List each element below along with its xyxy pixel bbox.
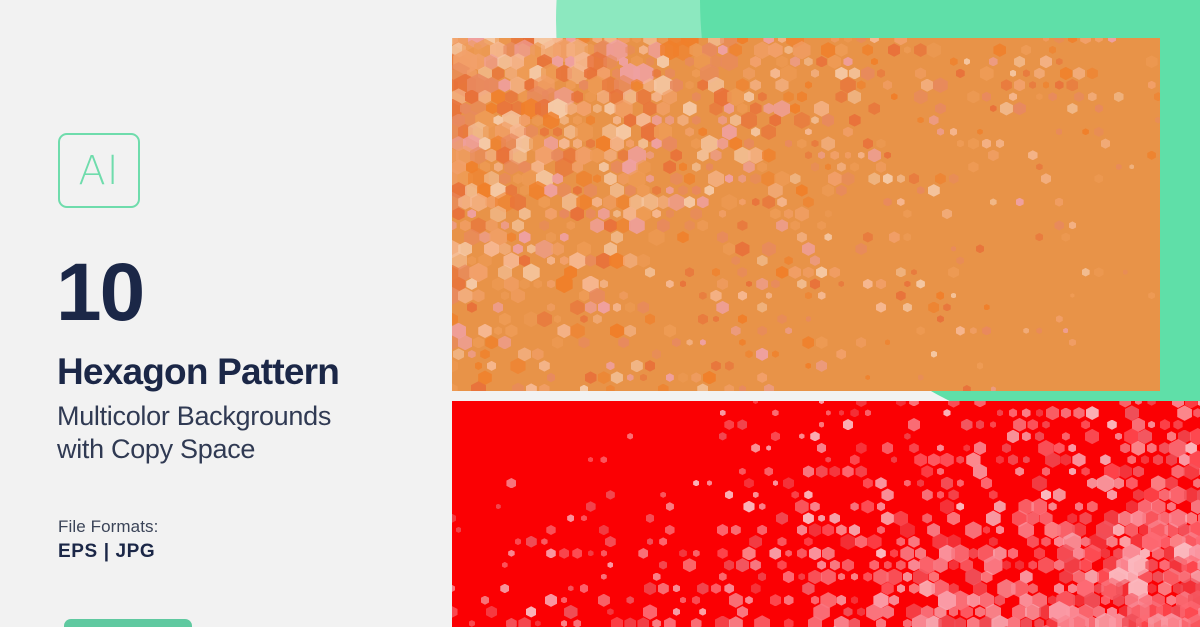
hexagon-tile [1123, 269, 1128, 274]
hexagon-tile [1087, 501, 1098, 513]
hexagon-tile [618, 337, 629, 348]
hexagon-tile [917, 117, 923, 124]
hexagon-tile [1056, 315, 1063, 323]
hexagon-tile [942, 209, 952, 220]
hexagon-tile [877, 526, 885, 534]
hexagon-tile [645, 313, 656, 324]
hexagon-tile [797, 548, 807, 559]
hexagon-tile [753, 401, 758, 404]
hexagon-tile [802, 336, 814, 349]
item-count: 10 [56, 252, 143, 334]
hexagon-tile [974, 441, 987, 455]
hexagon-tile [1095, 104, 1103, 113]
hexagon-tile [843, 419, 854, 430]
hexagon-tile [1041, 537, 1050, 547]
hexagon-tile [679, 162, 688, 171]
hexagon-tile [805, 128, 812, 135]
hexagon-tile [935, 173, 946, 185]
hexagon-tile [762, 148, 776, 162]
ai-badge-label: AI [78, 151, 119, 191]
hexagon-tile [452, 221, 457, 231]
hexagon-tile [830, 151, 839, 160]
hexagon-tile [829, 513, 840, 524]
hexagon-tile [1043, 38, 1050, 42]
hexagon-tile [884, 152, 891, 159]
hexagon-tile [611, 617, 624, 627]
hexagon-tile [750, 56, 761, 68]
hexagon-tile [1015, 467, 1024, 476]
hexagon-tile [683, 558, 696, 572]
hexagon-tile [712, 268, 720, 277]
hexagon-tile [770, 594, 782, 606]
hexagon-tile [1094, 174, 1103, 183]
hexagon-tile [693, 480, 699, 487]
hexagon-tile [863, 478, 873, 489]
hexagon-tile [580, 584, 589, 593]
hexagon-tile [904, 281, 910, 288]
hexagon-tile [1107, 420, 1117, 430]
hexagon-tile [579, 290, 590, 302]
hexagon-tile [754, 615, 770, 627]
hexagon-tile [698, 127, 707, 136]
hexagon-tile [967, 90, 979, 103]
hexagon-tile [499, 173, 511, 185]
hexagon-tile [718, 115, 727, 124]
hexagon-tile [928, 453, 940, 466]
hexagon-tile [771, 279, 780, 288]
hexagon-tile [1068, 583, 1077, 593]
hexagon-tile [965, 521, 982, 539]
hexagon-tile [838, 573, 845, 581]
hexagon-tile [606, 490, 615, 499]
hexagon-tile [508, 550, 515, 557]
hexagon-tile [1010, 70, 1017, 77]
hexagon-tile [1069, 339, 1076, 347]
hexagon-tile [1000, 102, 1013, 116]
hexagon-tile [646, 174, 654, 182]
hexagon-tile [678, 372, 688, 382]
hexagon-tile [843, 57, 852, 67]
hexagon-tile [666, 186, 674, 194]
hexagon-tile [875, 477, 886, 489]
hexagon-tile [745, 350, 752, 358]
hexagon-tile [568, 585, 574, 591]
hexagon-tile [593, 104, 602, 114]
hexagon-tile [849, 524, 860, 536]
hexagon-tile [680, 280, 687, 287]
hexagon-tile [578, 337, 589, 349]
hexagon-tile [539, 220, 549, 231]
hexagon-tile [501, 221, 509, 230]
hexagon-tile [545, 594, 558, 607]
hexagon-tile [758, 572, 766, 581]
hexagon-tile [896, 537, 905, 546]
hexagon-tile [911, 269, 917, 275]
hexagon-tile [700, 339, 706, 345]
hexagon-tile [547, 256, 555, 265]
hexagon-tile [811, 596, 819, 605]
hexagon-tile [883, 80, 892, 90]
hexagon-tile [731, 525, 741, 536]
hexagon-tile [677, 231, 688, 243]
cta-button[interactable] [64, 619, 192, 627]
hexagon-tile [968, 548, 978, 559]
hexagon-tile [849, 67, 860, 79]
hexagon-tile [840, 534, 855, 550]
hexagon-tile [950, 57, 958, 66]
hexagon-tile [692, 185, 701, 195]
hexagon-tile [929, 571, 939, 582]
hexagon-tile [729, 616, 743, 627]
hexagon-tile [1082, 268, 1090, 277]
hexagon-tile [805, 292, 812, 300]
hexagon-tile [613, 303, 622, 312]
hexagon-tile [711, 583, 721, 594]
hexagon-tile [976, 420, 985, 429]
hexagon-tile [876, 618, 886, 627]
hexagon-tile [837, 162, 846, 171]
hexagon-tile [737, 103, 747, 114]
hexagon-tile [750, 559, 761, 570]
hexagon-tile [1043, 81, 1050, 88]
hexagon-tile [1081, 420, 1090, 429]
hexagon-tile [533, 279, 542, 288]
hexagon-tile [789, 266, 801, 279]
hexagon-tile [1013, 418, 1026, 432]
hexagon-tile [606, 361, 614, 370]
hexagon-tile [810, 502, 820, 512]
hexagon-tile [876, 139, 885, 149]
hexagon-tile [599, 525, 609, 535]
hexagon-tile [658, 384, 669, 391]
hexagon-tile [996, 139, 1005, 148]
hexagon-tile [1167, 431, 1177, 441]
hexagon-tile [850, 454, 860, 465]
hexagon-tile [670, 172, 682, 185]
hexagon-tile [539, 384, 549, 391]
hexagon-tile [1001, 79, 1012, 91]
hexagon-tile [1028, 150, 1037, 160]
hexagon-tile [1171, 465, 1184, 479]
hexagon-tile [756, 348, 768, 361]
hexagon-tile [752, 198, 760, 206]
hexagon-tile [816, 336, 828, 349]
hexagon-tile [624, 325, 636, 337]
hexagon-tile [537, 311, 552, 327]
hexagon-tile [970, 327, 977, 334]
hexagon-tile [1056, 128, 1063, 135]
hexagon-tile [1042, 421, 1050, 429]
hexagon-tile [822, 524, 834, 537]
hexagon-tile [708, 170, 724, 187]
hexagon-tile [1159, 442, 1170, 454]
hexagon-tile [607, 608, 614, 615]
hexagon-tile [519, 279, 529, 290]
hexagon-tile [836, 595, 846, 606]
hexagon-tile [721, 194, 736, 210]
hexagon-tile [865, 409, 871, 416]
hexagon-tile [736, 558, 749, 572]
hexagon-tile [585, 371, 597, 384]
hexagon-tile [956, 502, 964, 510]
hexagon-tile [553, 127, 562, 137]
hexagon-tile [1159, 559, 1170, 570]
page-subtitle: Multicolor Backgroundswith Copy Space [57, 400, 331, 466]
hexagon-tile [686, 339, 692, 346]
hexagon-tile [685, 127, 694, 136]
hexagon-tile [561, 620, 568, 627]
hexagon-tile [485, 336, 498, 350]
hexagon-tile [841, 172, 854, 186]
hexagon-tile [806, 316, 812, 322]
hexagon-tile [586, 208, 596, 219]
hexagon-tile [460, 220, 471, 232]
hexagon-tile [922, 489, 933, 501]
hexagon-tile [1055, 198, 1064, 207]
hexagon-tile [666, 209, 675, 218]
hexagon-tile [545, 208, 557, 220]
hexagon-tile [783, 91, 794, 102]
hexagon-tile [861, 500, 874, 514]
hexagon-tile [725, 490, 733, 499]
hexagon-tile [486, 606, 498, 618]
hexagon-tile [666, 373, 674, 382]
hexagon-tile [904, 433, 910, 440]
hexagon-tile [673, 584, 681, 592]
hexagon-tile [828, 171, 842, 186]
hexagon-tile [822, 547, 835, 561]
hexagon-tile [1082, 128, 1089, 135]
hexagon-tile [1008, 454, 1018, 465]
hexagon-tile [1028, 560, 1037, 569]
hexagon-tile [627, 374, 634, 381]
hexagon-tile [770, 208, 781, 219]
hexagon-tile [809, 523, 822, 537]
hexagon-tile [601, 574, 607, 580]
hexagon-tile [956, 456, 964, 464]
hexagon-tile [1023, 456, 1030, 464]
hexagon-tile [1087, 67, 1098, 79]
hexagon-tile [1016, 198, 1024, 207]
hexagon-tile [1094, 127, 1103, 137]
hexagon-tile [639, 45, 648, 55]
hexagon-tile [652, 209, 661, 218]
hexagon-tile [672, 338, 681, 347]
hexagon-tile [994, 500, 1006, 512]
hexagon-tile [685, 81, 693, 90]
hexagon-tile [795, 499, 809, 514]
hexagon-tile [613, 116, 622, 125]
hexagon-tile [645, 360, 656, 372]
hexagon-tile [658, 583, 669, 595]
hexagon-tile [684, 196, 695, 208]
hexagon-tile [805, 363, 811, 369]
hexagon-tile [908, 559, 920, 571]
hexagon-tile [926, 42, 941, 58]
hexagon-tile [851, 573, 858, 581]
red-hexagon-preview[interactable] [452, 401, 1200, 627]
hexagon-tile [811, 140, 818, 148]
hexagon-tile [647, 538, 654, 545]
hexagon-tile [921, 79, 933, 92]
hexagon-tile [646, 514, 655, 523]
hexagon-tile [751, 583, 761, 594]
hexagon-tile [951, 293, 956, 299]
hexagon-tile [896, 291, 906, 301]
hexagon-tile [797, 232, 807, 243]
hexagon-tile [822, 184, 834, 197]
hexagon-tile [738, 314, 747, 324]
hexagon-tile [863, 138, 874, 149]
hexagon-tile [916, 279, 925, 288]
hexagon-tile [719, 572, 727, 581]
hexagon-tile [914, 43, 927, 57]
hexagon-tile [804, 57, 813, 66]
hexagon-tile [588, 457, 593, 462]
hexagon-tile [876, 279, 886, 290]
promo-banner: AI 10 Hexagon Pattern Multicolor Backgro… [0, 0, 1200, 627]
hexagon-tile [989, 57, 998, 66]
hexagon-tile [818, 291, 826, 299]
hexagon-tile [766, 445, 771, 451]
hexagon-tile [738, 174, 746, 183]
hexagon-tile [717, 138, 728, 150]
hexagon-tile [772, 409, 778, 416]
hexagon-tile [829, 267, 840, 279]
hexagon-tile [881, 488, 893, 501]
hexagon-tile [915, 67, 926, 79]
hexagon-tile [577, 101, 592, 117]
hexagon-tile [876, 548, 886, 558]
hexagon-tile [1126, 477, 1138, 490]
hexagon-tile [452, 606, 458, 618]
hexagon-tile [777, 537, 786, 547]
hexagon-tile [870, 38, 879, 43]
info-column: AI 10 Hexagon Pattern Multicolor Backgro… [0, 0, 452, 627]
hexagon-tile [535, 620, 541, 626]
file-formats-label: File Formats: [58, 517, 158, 537]
file-formats-value: EPS | JPG [58, 541, 155, 563]
hexagon-tile [1014, 56, 1025, 68]
hexagon-tile [948, 401, 960, 408]
hexagon-tile [876, 302, 886, 313]
hexagon-tile [506, 618, 517, 627]
hexagon-tile [868, 148, 881, 162]
hexagon-tile [977, 362, 984, 369]
hexagon-tile [758, 92, 767, 102]
hexagon-tile [980, 66, 994, 81]
hexagon-tile [982, 139, 992, 149]
hexagon-tile [836, 185, 847, 196]
hexagon-tile [724, 583, 734, 593]
hexagon-tile [717, 278, 728, 290]
hexagon-tile [1141, 455, 1150, 464]
hexagon-tile [1072, 453, 1085, 467]
hexagon-tile [1040, 55, 1052, 68]
hexagon-tile [685, 267, 695, 277]
hexagon-tile [724, 560, 734, 571]
hexagon-tile [903, 209, 911, 218]
hexagon-tile [811, 116, 819, 124]
hexagon-tile [526, 536, 537, 548]
hexagon-tile [1007, 430, 1020, 444]
hexagon-tile [871, 58, 878, 66]
hexagon-tile [479, 231, 490, 243]
hexagon-tile [1055, 80, 1064, 89]
hexagon-tile [513, 244, 523, 255]
hexagon-tile [928, 302, 939, 314]
hexagon-tile [1114, 92, 1124, 102]
hexagon-tile [619, 291, 628, 300]
hexagon-tile [730, 114, 742, 126]
hexagon-tile [963, 385, 971, 391]
hexagon-tile [1068, 38, 1077, 43]
hexagon-tile [1094, 267, 1104, 277]
hexagon-tile [573, 619, 581, 627]
hexagon-tile [1080, 38, 1091, 44]
hexagon-tile [836, 524, 847, 535]
hexagon-tile [943, 303, 951, 311]
hexagon-tile [940, 453, 954, 467]
hexagon-tile [698, 314, 708, 325]
hexagon-tile [1029, 81, 1036, 89]
hexagon-tile [623, 253, 638, 269]
hexagon-tile [631, 360, 643, 373]
hexagon-tile [1067, 103, 1077, 114]
hexagon-tile [467, 209, 476, 218]
hexagon-tile [744, 91, 754, 102]
hexagon-tile [611, 160, 624, 173]
hexagon-tile [1002, 443, 1011, 453]
hexagon-tile [977, 129, 983, 135]
hexagon-tile [756, 278, 768, 291]
hexagon-tile [744, 478, 754, 488]
hexagon-tile [499, 313, 511, 326]
hexagon-tile [835, 43, 848, 56]
hexagon-tile [704, 185, 714, 195]
hexagon-tile [825, 163, 831, 170]
hexagon-tile [896, 267, 906, 277]
hexagon-tile [974, 401, 985, 407]
hexagon-tile [691, 372, 701, 382]
hexagon-tile [850, 502, 858, 511]
hexagon-tile [666, 280, 674, 288]
hexagon-tile [1061, 233, 1070, 242]
hexagon-tile [776, 219, 788, 232]
hexagon-tile [519, 255, 530, 267]
hexagon-tile [552, 336, 564, 348]
hexagon-tile [990, 105, 997, 112]
hexagon-tile [863, 572, 872, 582]
hexagon-tile [498, 78, 511, 92]
hexagon-tile [666, 502, 674, 511]
hexagon-tile [611, 231, 623, 244]
orange-hexagon-preview[interactable] [452, 38, 1160, 391]
hexagon-tile [659, 561, 667, 570]
hexagon-tile [751, 443, 760, 452]
hexagon-tile [759, 503, 766, 510]
hexagon-tile [1118, 464, 1132, 478]
hexagon-tile [1100, 454, 1110, 465]
hexagon-tile [697, 383, 708, 391]
hexagon-tile [810, 431, 819, 441]
hexagon-tile [948, 489, 958, 500]
hexagon-tile [717, 524, 728, 536]
hexagon-tile [678, 185, 688, 195]
hexagon-tile [1038, 557, 1054, 574]
hexagon-tile [744, 138, 754, 149]
hexagon-tile [868, 172, 880, 185]
